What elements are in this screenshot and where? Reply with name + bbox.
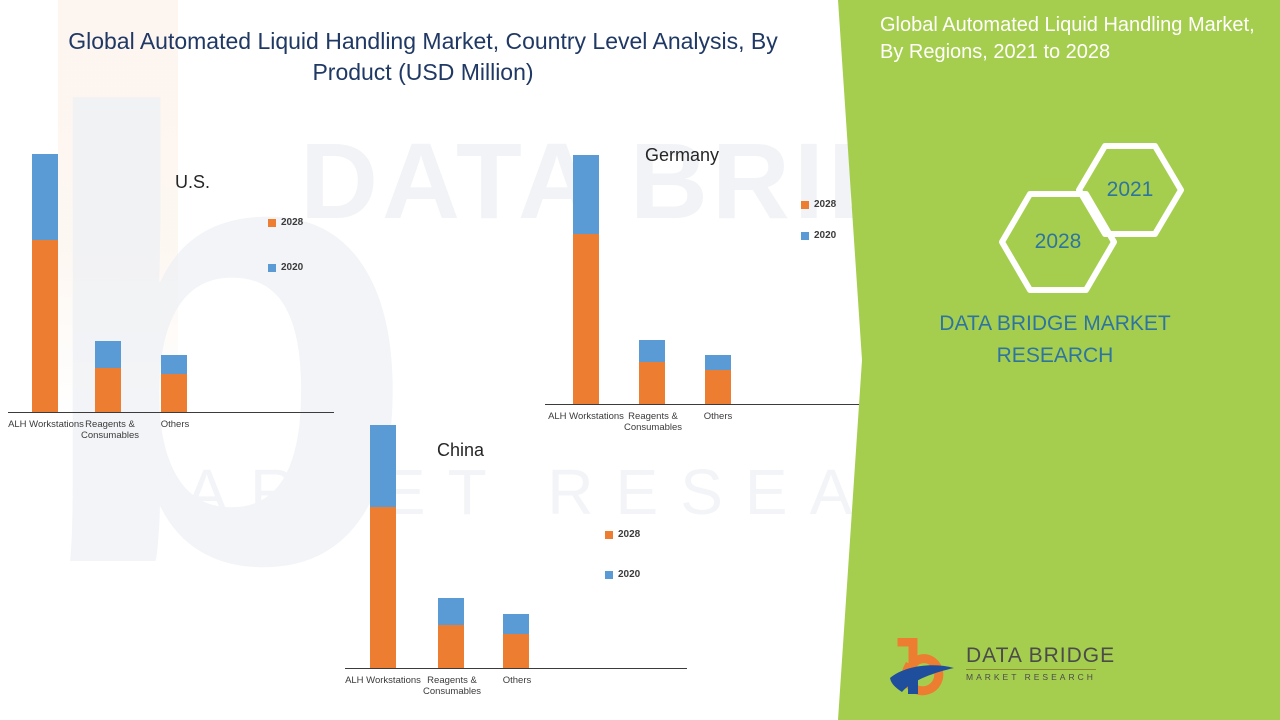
chart-germany-bar-alh-2020	[573, 155, 599, 234]
logo-text: DATA BRIDGE MARKET RESEARCH	[966, 644, 1115, 682]
chart-germany-bar-alh[interactable]	[573, 155, 599, 404]
chart-us-legend-2020[interactable]: 2020	[268, 262, 303, 273]
legend-swatch-2020-icon	[268, 264, 276, 272]
logo-sub-text: MARKET RESEARCH	[966, 672, 1115, 682]
legend-swatch-2028-icon	[268, 219, 276, 227]
chart-germany: Germany ALH Workstations Reagents & Cons…	[545, 140, 885, 300]
chart-germany-bar-reagents[interactable]	[639, 340, 665, 404]
chart-us-bar-others-2028	[161, 374, 187, 412]
page-title: Global Automated Liquid Handling Market,…	[28, 26, 818, 88]
chart-germany-legend-2028-label: 2028	[814, 199, 836, 210]
chart-germany-cat-2: Others	[688, 411, 748, 422]
chart-germany-bar-alh-2028	[573, 234, 599, 404]
brand-name-line1: DATA BRIDGE MARKET	[870, 308, 1240, 340]
regions-panel-heading: Global Automated Liquid Handling Market,…	[880, 12, 1270, 66]
legend-swatch-2028-icon	[801, 201, 809, 209]
chart-germany-bar-others-2020	[705, 355, 731, 370]
hexagon-2021-label: 2021	[1107, 178, 1154, 202]
chart-us-bar-reagents-2028	[95, 368, 121, 412]
chart-us-cat-1: Reagents & Consumables	[70, 419, 150, 441]
brand-name-line2: RESEARCH	[870, 340, 1240, 372]
chart-us-title: U.S.	[175, 172, 210, 193]
chart-china-axis	[345, 668, 687, 669]
logo-divider	[966, 669, 1096, 670]
chart-us-legend-2020-label: 2020	[281, 262, 303, 273]
chart-germany-legend-2020[interactable]: 2020	[801, 230, 836, 241]
hexagon-2021[interactable]: 2021	[1075, 142, 1185, 238]
chart-china-cat-0: ALH Workstations	[345, 675, 421, 686]
chart-china-bar-others-2020	[503, 614, 529, 634]
chart-china-cat-2: Others	[487, 675, 547, 686]
chart-us-bar-reagents[interactable]	[95, 341, 121, 412]
chart-germany-legend-2028[interactable]: 2028	[801, 199, 836, 210]
chart-china-bar-reagents-2028	[438, 625, 464, 668]
chart-germany-bar-others-2028	[705, 370, 731, 404]
chart-us-axis	[8, 412, 334, 413]
chart-us-cat-2: Others	[145, 419, 205, 430]
chart-us-bar-reagents-2020	[95, 341, 121, 368]
databridge-logo-mark-icon	[888, 638, 958, 700]
brand-name-panel: DATA BRIDGE MARKET RESEARCH	[870, 308, 1240, 372]
regions-panel: Global Automated Liquid Handling Market,…	[820, 0, 1280, 720]
legend-swatch-2020-icon	[801, 232, 809, 240]
chart-china-bar-alh-2028	[370, 507, 396, 668]
chart-us-bar-others-2020	[161, 355, 187, 374]
chart-us-bar-alh[interactable]	[32, 154, 58, 412]
chart-china-bar-others-2028	[503, 634, 529, 668]
chart-germany-bar-reagents-2020	[639, 340, 665, 362]
chart-china-cat-1: Reagents & Consumables	[412, 675, 492, 697]
chart-china: China ALH Workstations Reagents & Consum…	[340, 410, 690, 570]
chart-china-title: China	[437, 440, 484, 461]
chart-china-bar-reagents-2020	[438, 598, 464, 625]
chart-us: U.S. ALH Workstations Reagents & Consuma…	[0, 140, 340, 300]
chart-us-legend-2028[interactable]: 2028	[268, 217, 303, 228]
chart-china-legend-2020[interactable]: 2020	[605, 569, 640, 580]
chart-us-bar-alh-2028	[32, 240, 58, 412]
chart-china-bar-reagents[interactable]	[438, 598, 464, 668]
chart-germany-axis	[545, 404, 880, 405]
chart-us-legend-2028-label: 2028	[281, 217, 303, 228]
chart-germany-title: Germany	[645, 145, 719, 166]
chart-china-legend-2028[interactable]: 2028	[605, 529, 640, 540]
chart-germany-bar-others[interactable]	[705, 355, 731, 404]
chart-china-legend-2028-label: 2028	[618, 529, 640, 540]
chart-us-bar-alh-2020	[32, 154, 58, 240]
chart-china-bar-alh-2020	[370, 425, 396, 507]
charts-pane: Global Automated Liquid Handling Market,…	[0, 0, 880, 720]
chart-us-bar-others[interactable]	[161, 355, 187, 412]
chart-germany-legend-2020-label: 2020	[814, 230, 836, 241]
chart-germany-bar-reagents-2028	[639, 362, 665, 404]
hexagon-2028-label: 2028	[1035, 230, 1082, 254]
legend-swatch-2028-icon	[605, 531, 613, 539]
chart-china-legend-2020-label: 2020	[618, 569, 640, 580]
legend-swatch-2020-icon	[605, 571, 613, 579]
chart-china-bar-alh[interactable]	[370, 425, 396, 668]
logo-main-text: DATA BRIDGE	[966, 644, 1115, 668]
company-logo[interactable]: DATA BRIDGE MARKET RESEARCH	[888, 638, 1103, 700]
chart-china-bar-others[interactable]	[503, 614, 529, 668]
